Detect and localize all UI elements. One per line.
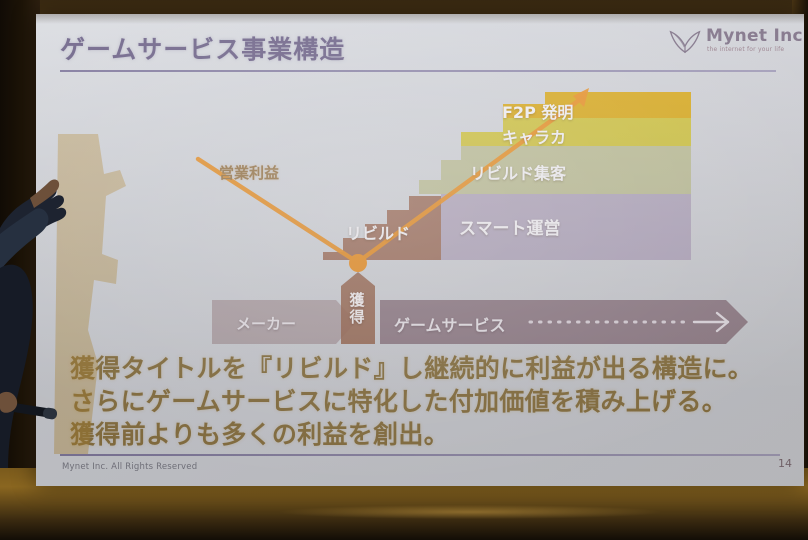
page-number: 14	[778, 457, 792, 470]
floor-light-glow	[280, 505, 660, 519]
footer-divider	[60, 454, 780, 456]
body-line-2: さらにゲームサービスに特化した付加価値を積み上げる。	[70, 385, 780, 418]
profit-inflection-dot	[349, 254, 367, 272]
screen-top-shade	[36, 14, 804, 24]
flow-label-maker: メーカー	[236, 313, 296, 334]
body-line-1: 獲得タイトルを『リビルド』し継続的に利益が出る構造に。	[70, 352, 780, 385]
body-line-3: 獲得前よりも多くの利益を創出。	[70, 418, 780, 451]
flow-label-acquisition: 獲得	[342, 292, 372, 326]
step-label-characterization: キャラカ	[502, 124, 566, 148]
presenter-silhouette	[0, 118, 96, 468]
step-label-f2p: F2P 発明	[502, 99, 573, 123]
step-characterization	[461, 118, 691, 146]
operating-profit-label: 営業利益	[219, 162, 279, 183]
projection-screen: ゲームサービス事業構造 Mynet Inc. the internet for …	[36, 14, 804, 486]
business-structure-diagram: F2P 発明 キャラカ リビルド集客 スマート運営 リビルド 営業利益 メーカー…	[36, 14, 804, 354]
body-copy: 獲得タイトルを『リビルド』し継続的に利益が出る構造に。 さらにゲームサービスに特…	[70, 352, 780, 451]
step-label-rebuild-acquisition: リビルド集客	[470, 160, 566, 184]
step-label-smart-operation: スマート運営	[459, 214, 561, 239]
step-label-rebuild: リビルド	[346, 220, 410, 244]
flow-label-game-service: ゲームサービス	[394, 312, 506, 336]
